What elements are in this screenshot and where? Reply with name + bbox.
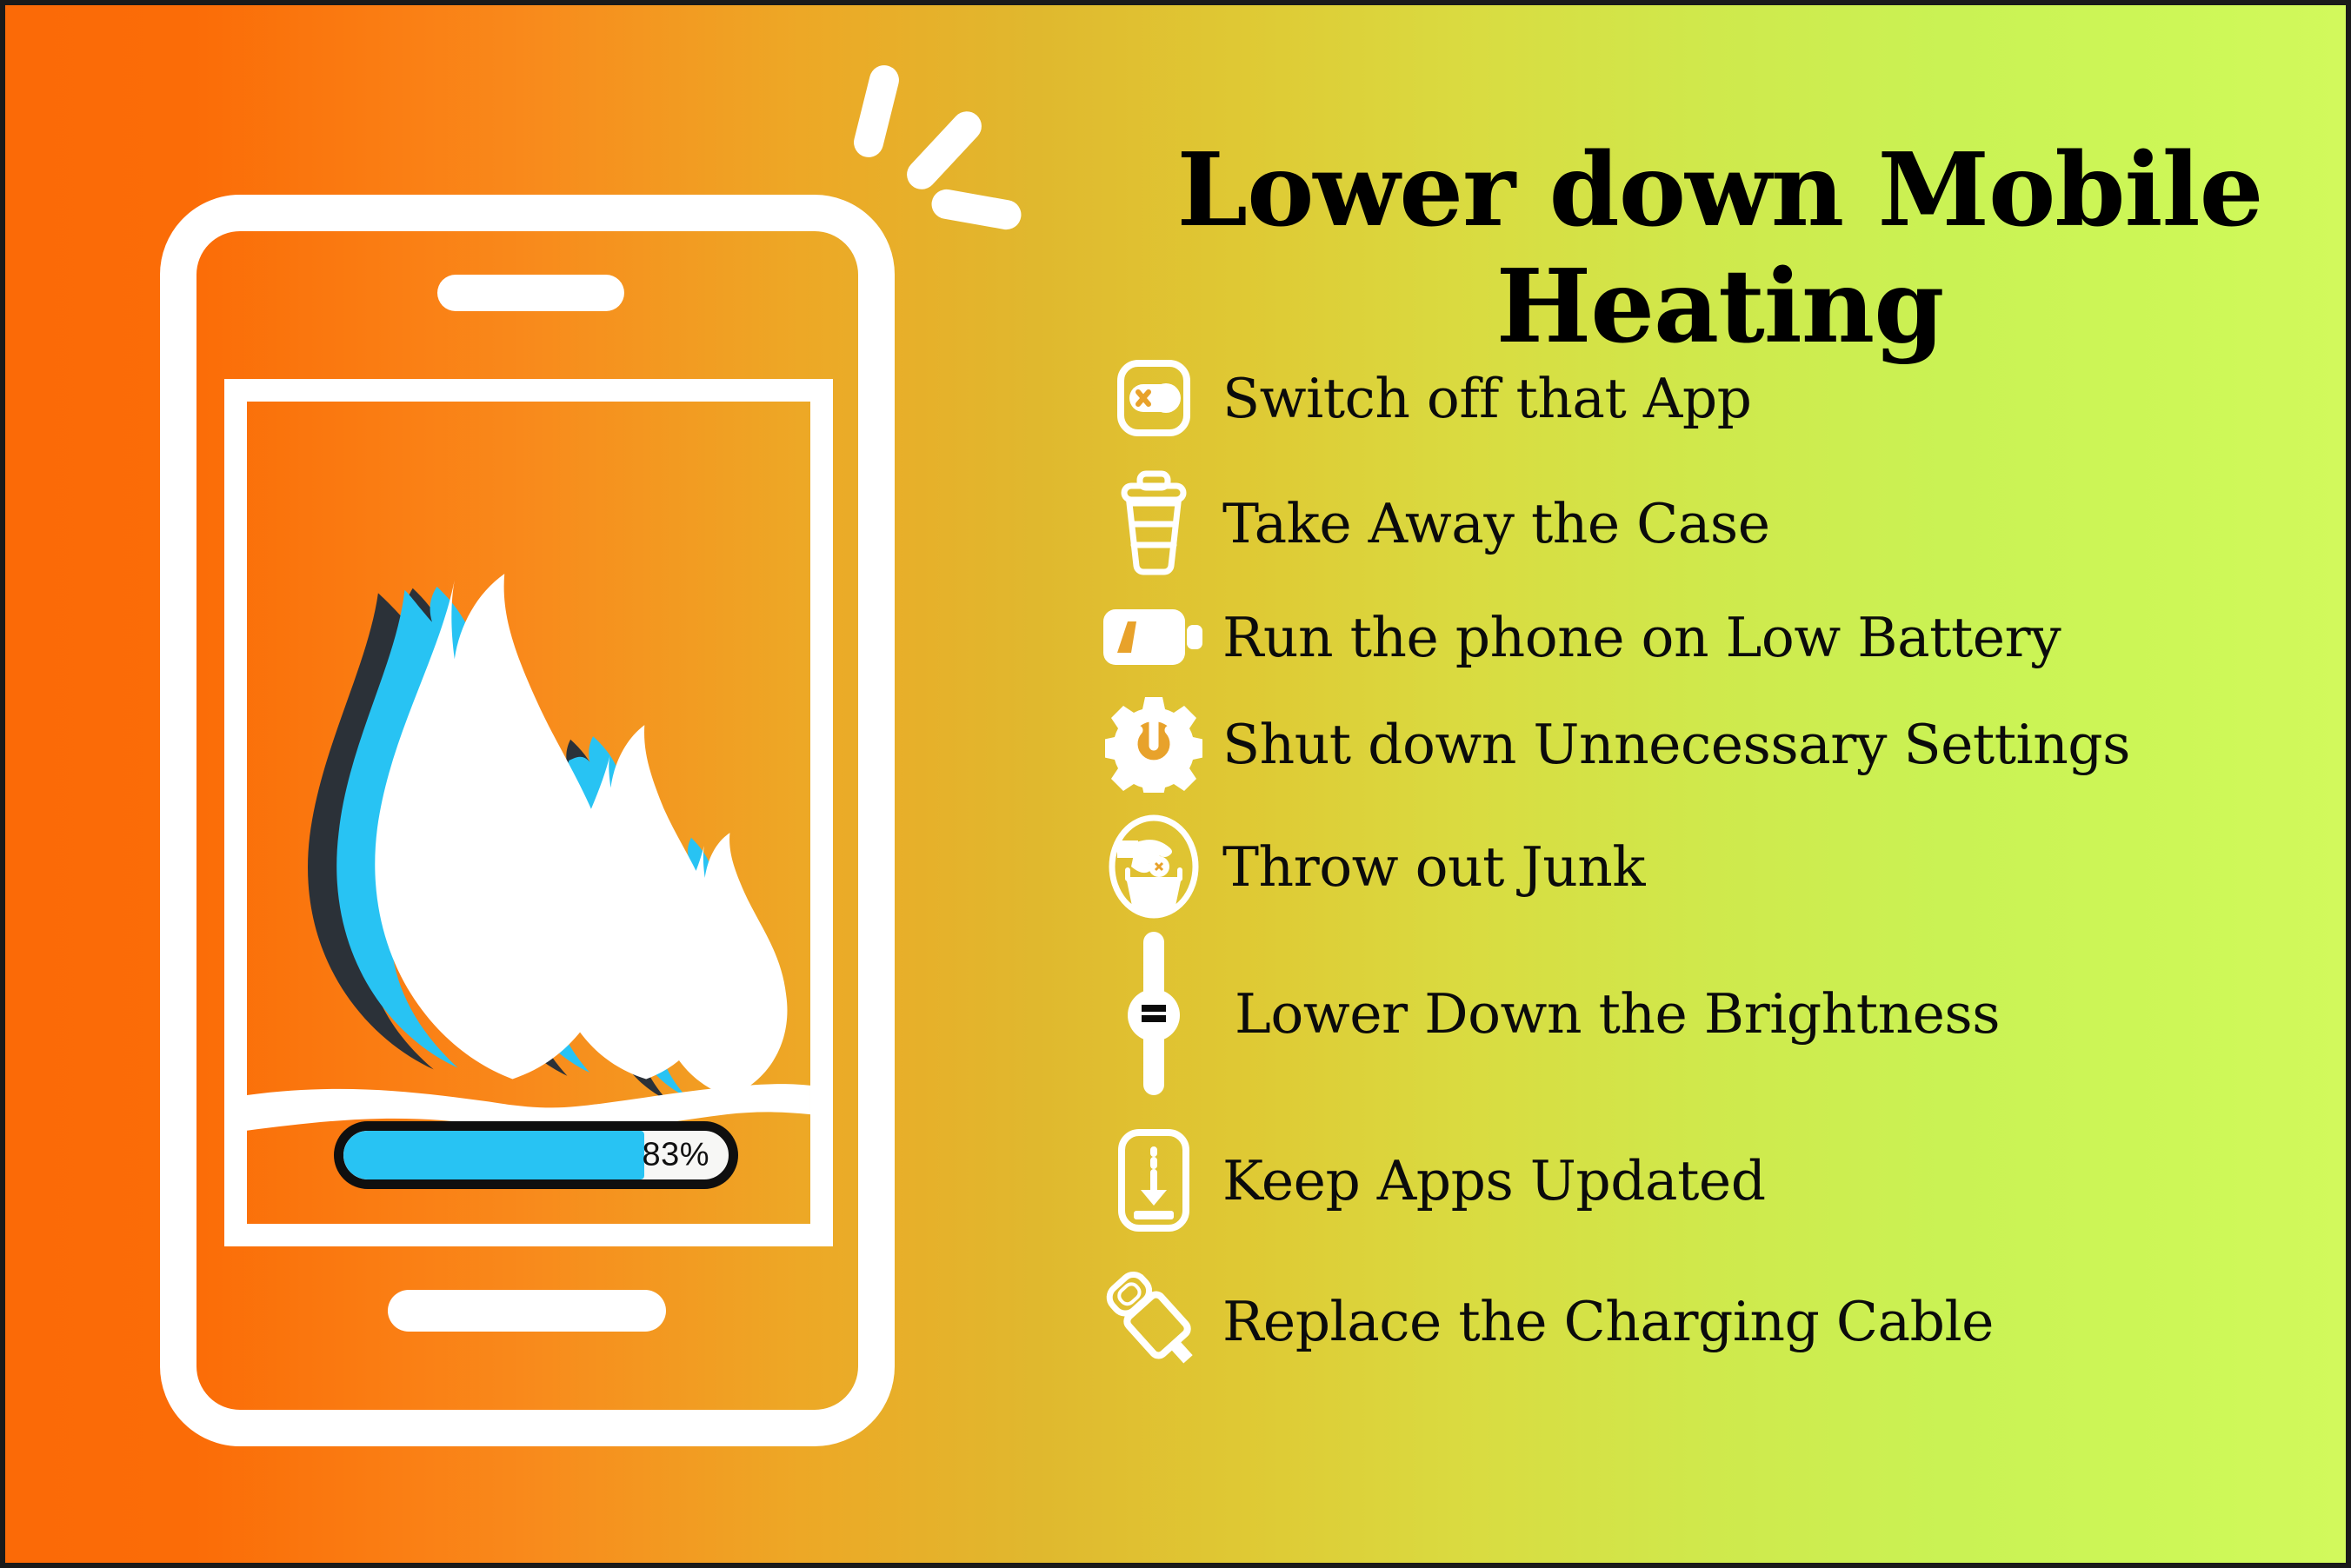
page-title: Lower down Mobile Heating: [1083, 132, 2351, 366]
list-item[interactable]: Run the phone on Low Battery: [1099, 586, 2351, 688]
spark-marks: [836, 49, 1070, 240]
download-update-icon: [1099, 1126, 1209, 1235]
list-item[interactable]: Throw out Junk: [1099, 810, 2351, 923]
list-item[interactable]: Shut down Unnecessary Settings: [1099, 690, 2351, 798]
content-panel: Lower down Mobile Heating Switch off tha…: [1083, 5, 2351, 1568]
phone-screen: 83%: [224, 379, 833, 1246]
list-item[interactable]: Keep Apps Updated: [1099, 1121, 2351, 1239]
toggle-off-icon: [1099, 343, 1209, 453]
progress-label: 83%: [642, 1137, 709, 1174]
spark-icon: [929, 187, 1023, 232]
list-item-label: Throw out Junk: [1209, 840, 1645, 894]
infographic-poster: 83% Lower down Mobile Heating Switch off…: [0, 0, 2351, 1568]
phone-home-bar: [388, 1290, 666, 1332]
flame-icon: [247, 402, 810, 1205]
list-item-label: Switch off that App: [1209, 371, 1751, 426]
list-item[interactable]: Switch off that App: [1099, 342, 2351, 454]
trash-hand-icon: [1099, 812, 1209, 921]
low-battery-icon: [1099, 582, 1209, 692]
list-item-label: Run the phone on Low Battery: [1209, 610, 2061, 665]
list-item[interactable]: Take Away the Case: [1099, 462, 2351, 584]
phone-illustration: 83%: [5, 5, 1083, 1568]
list-item-label: Take Away the Case: [1209, 496, 1770, 551]
spark-icon: [850, 62, 902, 160]
list-item[interactable]: Replace the Charging Cable: [1099, 1260, 2351, 1382]
phone-case-icon: [1099, 468, 1209, 578]
gear-power-icon: [1099, 689, 1209, 799]
list-item-label: Shut down Unnecessary Settings: [1209, 717, 2130, 772]
progress-fill: [343, 1131, 644, 1179]
tips-list: Switch off that App Take Away the Case: [1099, 342, 2351, 1382]
battery-progress-bar: 83%: [334, 1121, 738, 1189]
list-item[interactable]: Lower Down the Brightness: [1099, 927, 2351, 1100]
charging-cable-icon: [1099, 1266, 1209, 1376]
list-item-label: Lower Down the Brightness: [1209, 987, 2000, 1041]
list-item-label: Replace the Charging Cable: [1209, 1294, 1994, 1349]
phone-speaker-grille: [437, 275, 624, 311]
brightness-slider-icon: [1099, 959, 1209, 1068]
list-item-label: Keep Apps Updated: [1209, 1153, 1766, 1208]
spark-icon: [901, 105, 988, 196]
